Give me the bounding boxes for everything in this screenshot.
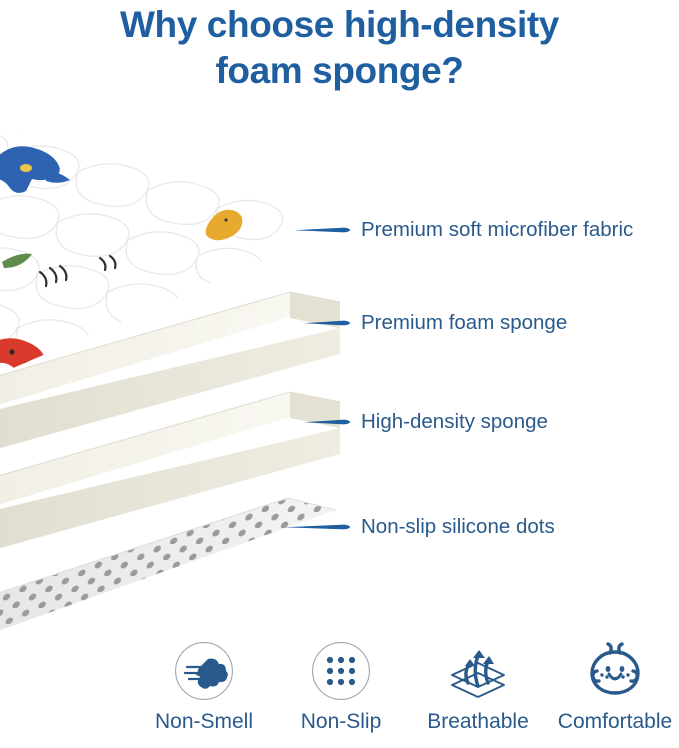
- feature-non-slip: Non-Slip: [277, 640, 405, 732]
- airflow-layers-icon: [446, 640, 510, 702]
- feature-comfortable: Comfortable: [551, 640, 679, 732]
- infographic-canvas: Why choose high-density foam sponge?: [0, 0, 679, 748]
- feature-label: Breathable: [427, 711, 529, 732]
- feature-breathable: Breathable: [414, 640, 542, 732]
- product-layer-illustration: [0, 96, 348, 656]
- callout-label: Premium foam sponge: [361, 313, 567, 334]
- leader-line-icon: [294, 225, 350, 235]
- feature-non-smell: Non-Smell: [140, 640, 268, 732]
- feature-label: Comfortable: [558, 711, 672, 732]
- callout-label: Non-slip silicone dots: [361, 517, 555, 538]
- leader-line-icon: [284, 522, 350, 532]
- dot-grid-icon: [311, 640, 371, 702]
- page-title: Why choose high-density foam sponge?: [0, 2, 679, 93]
- leader-line-icon: [304, 318, 350, 328]
- leader-line-icon: [304, 417, 350, 427]
- callout-premium-foam-sponge: Premium foam sponge: [304, 313, 567, 334]
- feature-label: Non-Slip: [301, 711, 382, 732]
- callout-label: Premium soft microfiber fabric: [361, 220, 633, 241]
- feature-label: Non-Smell: [155, 711, 253, 732]
- callout-label: High-density sponge: [361, 412, 548, 433]
- callout-high-density-sponge: High-density sponge: [304, 412, 548, 433]
- feature-badges-row: Non-Smell Non-Slip: [140, 640, 679, 748]
- baby-face-icon: [584, 640, 646, 702]
- callout-premium-soft-microfiber-fabric: Premium soft microfiber fabric: [294, 220, 633, 241]
- page-title-line-1: Why choose high-density: [0, 2, 679, 48]
- callout-non-slip-silicone-dots: Non-slip silicone dots: [284, 517, 555, 538]
- odor-wind-icon: [174, 640, 234, 702]
- page-title-line-2: foam sponge?: [0, 48, 679, 94]
